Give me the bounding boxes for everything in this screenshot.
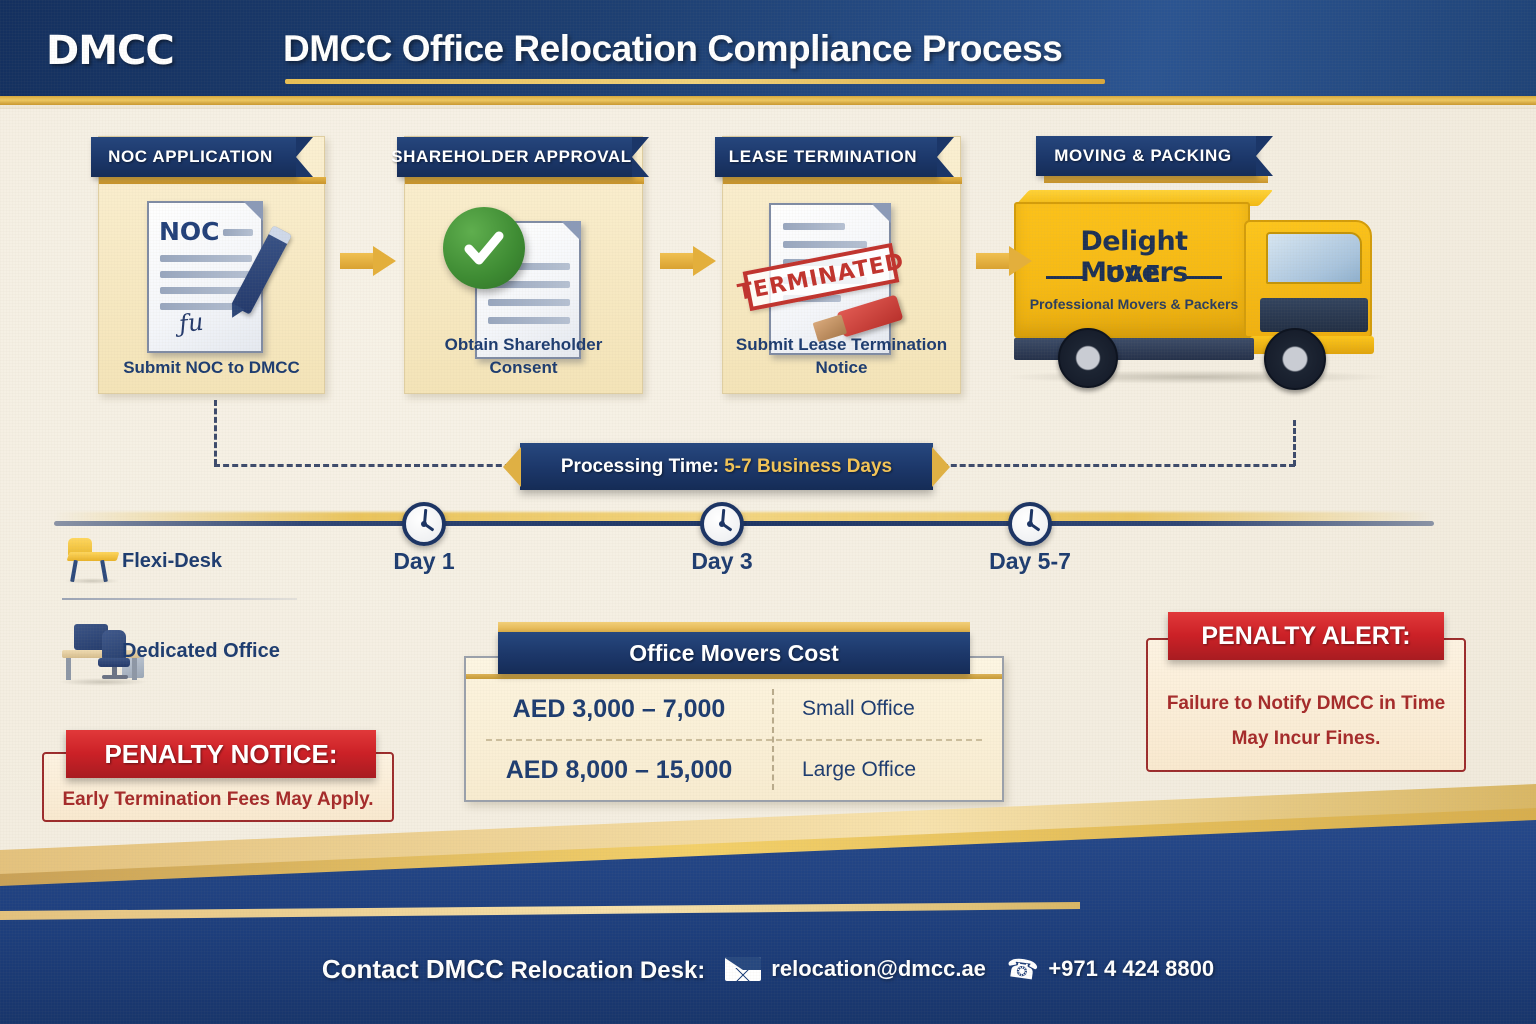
footer-contact-strong: Contact DMCC xyxy=(322,954,504,984)
footer-phone-value: +971 4 424 8800 xyxy=(1048,956,1214,982)
timeline-clock-day1 xyxy=(402,502,446,546)
step-caption: Obtain Shareholder Consent xyxy=(413,334,634,379)
ribbon-gold-underline xyxy=(405,177,644,184)
footer-contact-label: Contact DMCC Relocation Desk: xyxy=(322,954,705,985)
processing-time-label: Processing Time: xyxy=(561,456,719,477)
facility-label-flexi-desk: Flexi-Desk xyxy=(122,550,222,573)
step-arrow-3 xyxy=(976,246,1032,276)
timeline-clock-day3 xyxy=(700,502,744,546)
step-arrow-2 xyxy=(660,246,716,276)
step-card-moving-packing[interactable]: MOVING & PACKING Delight Movers UAE Prof… xyxy=(1028,136,1458,406)
penalty-alert-box: PENALTY ALERT: Failure to Notify DMCC in… xyxy=(1146,612,1466,772)
connector-right-vertical xyxy=(1293,420,1296,466)
footer-phone[interactable]: ☎ +971 4 424 8800 xyxy=(1006,954,1214,985)
ribbon-gold-underline xyxy=(1044,176,1268,183)
truck-logo-line2: UAE xyxy=(1032,262,1236,288)
connector-left-horizontal xyxy=(214,464,520,467)
step-card-noc-application[interactable]: NOC APPLICATION NOC ƒи Submit xyxy=(98,136,325,394)
step-arrow-1 xyxy=(340,246,396,276)
green-check-icon xyxy=(443,207,525,289)
processing-time-banner: Processing Time: 5-7 Business Days xyxy=(520,443,933,490)
facility-divider xyxy=(62,598,297,600)
truck-logo-line3: Professional Movers & Packers xyxy=(1026,296,1242,312)
page-fold-icon xyxy=(561,221,581,241)
footer-contact-rest: Relocation Desk: xyxy=(504,957,705,984)
process-steps: NOC APPLICATION NOC ƒи Submit xyxy=(0,136,1536,406)
flexi-desk-icon xyxy=(62,538,120,582)
step-card-lease-termination[interactable]: LEASE TERMINATION TERMINATED Submit Leas… xyxy=(722,136,961,394)
step-ribbon-label: SHAREHOLDER APPROVAL xyxy=(397,137,632,177)
cost-table-title: Office Movers Cost xyxy=(498,632,970,674)
connector-right-horizontal xyxy=(933,464,1295,467)
cost-amount: AED 3,000 – 7,000 xyxy=(466,695,772,724)
step-ribbon-label: NOC APPLICATION xyxy=(91,137,296,177)
header-gold-band xyxy=(0,96,1536,105)
processing-time-value: 5-7 Business Days xyxy=(724,456,892,477)
ribbon-gold-underline xyxy=(723,177,962,184)
footer-contact-bar: Contact DMCC Relocation Desk: relocation… xyxy=(0,914,1536,1024)
page-fold-icon xyxy=(243,201,263,221)
step-ribbon-label: LEASE TERMINATION xyxy=(715,137,937,177)
chevron-left-icon xyxy=(503,447,521,487)
timeline-axis xyxy=(54,521,1434,526)
doc-label: NOC xyxy=(159,217,220,246)
footer-email[interactable]: relocation@dmcc.ae xyxy=(725,956,986,982)
step-caption: Submit Lease Termination Notice xyxy=(731,334,952,379)
cost-table-gold-bottom xyxy=(466,674,1002,679)
truck-wheel-rear xyxy=(1058,328,1118,388)
penalty-alert-header: PENALTY ALERT: xyxy=(1168,612,1444,660)
step-card-shareholder-approval[interactable]: SHAREHOLDER APPROVAL Obtain Shareholder … xyxy=(404,136,643,394)
header-gold-band-secondary xyxy=(0,105,1536,109)
infographic-canvas: DMCC DMCC Office Relocation Compliance P… xyxy=(0,0,1536,1024)
title-underline xyxy=(285,79,1105,84)
ribbon-gold-underline xyxy=(99,177,326,184)
table-row[interactable]: AED 3,000 – 7,000 Small Office xyxy=(466,679,1002,739)
cost-type: Small Office xyxy=(772,697,1002,721)
truck-wheel-front xyxy=(1264,328,1326,390)
facility-label-dedicated-office: Dedicated Office xyxy=(122,640,280,663)
dmcc-logo: DMCC xyxy=(46,28,174,74)
phone-icon: ☎ xyxy=(1004,951,1040,986)
step-caption: Submit NOC to DMCC xyxy=(107,357,316,379)
document-with-pen-icon: NOC ƒи xyxy=(99,191,324,329)
green-check-document-icon xyxy=(405,191,642,329)
connector-left-vertical xyxy=(214,400,217,465)
cost-table-gold-top xyxy=(498,622,970,632)
timeline-label-day1: Day 1 xyxy=(364,548,484,575)
timeline-clock-day5-7 xyxy=(1008,502,1052,546)
timeline-label-day3: Day 3 xyxy=(662,548,782,575)
page-fold-icon xyxy=(871,203,891,223)
penalty-notice-header: PENALTY NOTICE: xyxy=(66,730,376,778)
footer-email-value: relocation@dmcc.ae xyxy=(771,956,986,982)
timeline-label-day5-7: Day 5-7 xyxy=(970,548,1090,575)
penalty-alert-text-line1: Failure to Notify DMCC in Time xyxy=(1154,690,1458,719)
page-title: DMCC Office Relocation Compliance Proces… xyxy=(283,28,1062,70)
terminated-stamp-document-icon: TERMINATED xyxy=(723,191,960,329)
step-ribbon-label: MOVING & PACKING xyxy=(1036,136,1256,176)
envelope-icon xyxy=(725,957,761,981)
chevron-right-icon xyxy=(932,447,950,487)
penalty-alert-text-line2: May Incur Fines. xyxy=(1154,725,1458,754)
